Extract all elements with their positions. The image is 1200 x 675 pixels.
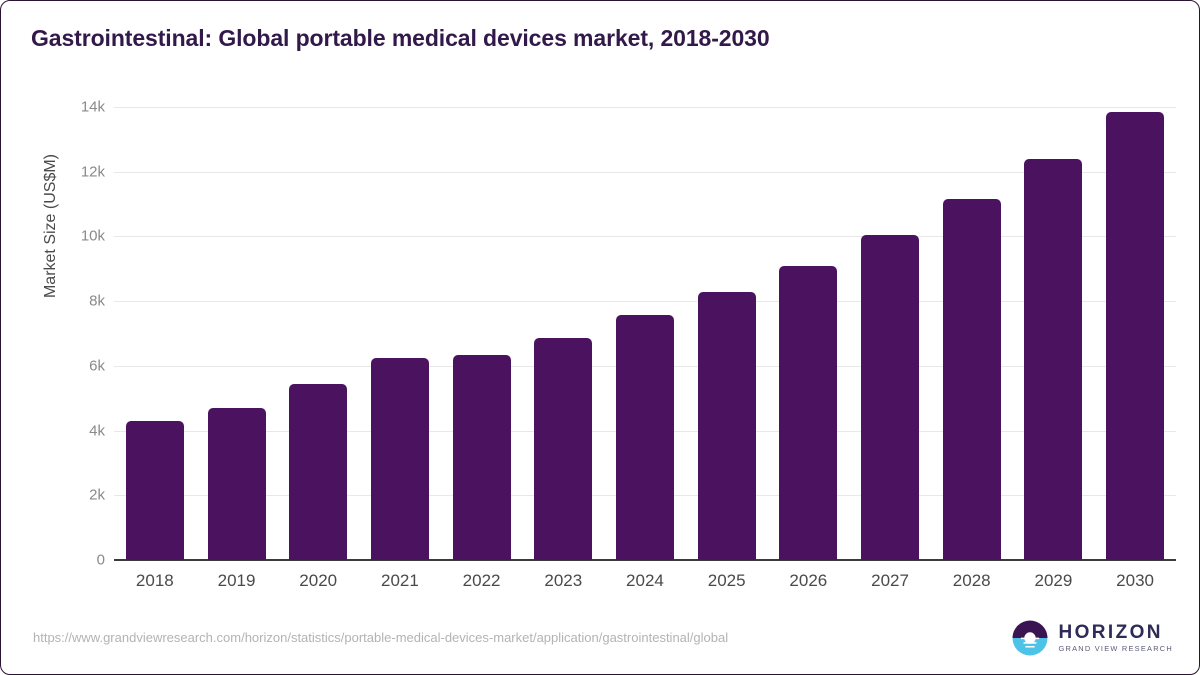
bar-series bbox=[114, 107, 1176, 560]
y-axis-tick-label: 14k bbox=[53, 99, 105, 116]
x-axis-tick-label: 2024 bbox=[604, 571, 686, 591]
x-axis-tick-label: 2029 bbox=[1013, 571, 1095, 591]
bar-2020[interactable] bbox=[289, 384, 347, 560]
y-axis-tick-label: 4k bbox=[53, 422, 105, 439]
bar-band bbox=[441, 107, 523, 560]
bar-2030[interactable] bbox=[1106, 112, 1164, 560]
logo-text: HORIZON GRAND VIEW RESEARCH bbox=[1058, 623, 1173, 652]
y-axis-tick-label: 0 bbox=[53, 552, 105, 569]
x-axis-tick-label: 2025 bbox=[686, 571, 768, 591]
bar-band bbox=[196, 107, 278, 560]
bar-band bbox=[359, 107, 441, 560]
bar-2028[interactable] bbox=[943, 199, 1001, 560]
x-axis-tick-label: 2020 bbox=[277, 571, 359, 591]
bar-band bbox=[849, 107, 931, 560]
y-axis-tick-label: 2k bbox=[53, 487, 105, 504]
y-axis-tick-label: 10k bbox=[53, 228, 105, 245]
chart-card: Gastrointestinal: Global portable medica… bbox=[0, 0, 1200, 675]
x-axis-tick-label: 2019 bbox=[196, 571, 278, 591]
bar-2018[interactable] bbox=[126, 421, 184, 560]
y-axis-tick-label: 12k bbox=[53, 163, 105, 180]
horizon-sun-circle-icon bbox=[1011, 619, 1049, 657]
bar-2026[interactable] bbox=[779, 266, 837, 560]
bar-2021[interactable] bbox=[371, 358, 429, 560]
bar-band bbox=[1094, 107, 1176, 560]
bar-2025[interactable] bbox=[698, 292, 756, 560]
bar-2022[interactable] bbox=[453, 355, 511, 560]
bar-2024[interactable] bbox=[616, 315, 674, 560]
logo-tagline: GRAND VIEW RESEARCH bbox=[1058, 645, 1173, 652]
y-axis-tick-label: 6k bbox=[53, 357, 105, 374]
x-axis-tick-label: 2027 bbox=[849, 571, 931, 591]
logo-name: HORIZON bbox=[1058, 623, 1173, 642]
x-axis-tick-label: 2022 bbox=[441, 571, 523, 591]
source-url[interactable]: https://www.grandviewresearch.com/horizo… bbox=[33, 630, 728, 645]
x-axis-tick-label: 2026 bbox=[768, 571, 850, 591]
bar-band bbox=[686, 107, 768, 560]
x-axis-tick-labels: 2018201920202021202220232024202520262027… bbox=[114, 571, 1176, 591]
bar-band bbox=[768, 107, 850, 560]
bar-band bbox=[1013, 107, 1095, 560]
y-axis-tick-label: 8k bbox=[53, 293, 105, 310]
bar-2023[interactable] bbox=[534, 338, 592, 560]
x-axis-tick-label: 2028 bbox=[931, 571, 1013, 591]
horizon-logo[interactable]: HORIZON GRAND VIEW RESEARCH bbox=[1011, 619, 1173, 657]
x-axis-tick-label: 2021 bbox=[359, 571, 441, 591]
bar-band bbox=[931, 107, 1013, 560]
bar-2027[interactable] bbox=[861, 235, 919, 560]
x-axis-tick-label: 2030 bbox=[1094, 571, 1176, 591]
x-axis-tick-label: 2018 bbox=[114, 571, 196, 591]
bar-2029[interactable] bbox=[1024, 159, 1082, 560]
bar-2019[interactable] bbox=[208, 408, 266, 560]
chart-plot-area: Market Size (US$M) 02k4k6k8k10k12k14k 20… bbox=[1, 1, 1200, 675]
x-axis-tick-label: 2023 bbox=[522, 571, 604, 591]
bar-band bbox=[114, 107, 196, 560]
bar-band bbox=[522, 107, 604, 560]
bar-band bbox=[604, 107, 686, 560]
bar-band bbox=[277, 107, 359, 560]
